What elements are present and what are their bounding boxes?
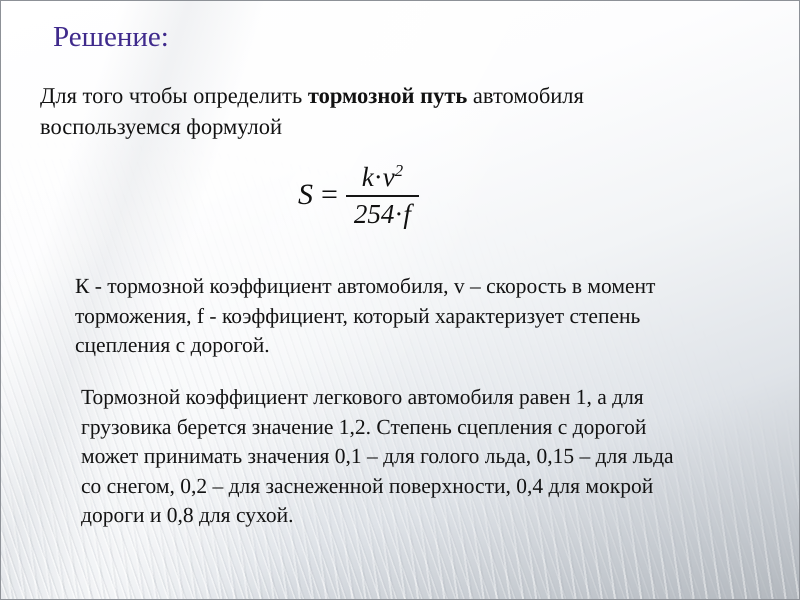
formula-numerator-dot: · xyxy=(374,162,383,192)
variable-definitions-paragraph: К - тормозной коэффициент автомобиля, v … xyxy=(75,272,699,361)
braking-distance-formula: S = k·v2 254·f xyxy=(298,161,419,230)
page-title: Решение: xyxy=(53,22,169,54)
formula-exponent: 2 xyxy=(395,161,403,180)
coefficient-values-paragraph: Тормозной коэффициент легкового автомоби… xyxy=(81,383,697,531)
formula-k: k xyxy=(362,162,374,192)
intro-text-before-bold: Для того чтобы определить xyxy=(40,83,308,108)
formula-denominator: 254·f xyxy=(346,197,419,230)
intro-bold-term: тормозной путь xyxy=(308,83,467,108)
formula-v: v xyxy=(383,162,395,192)
formula-fraction: k·v2 254·f xyxy=(346,161,419,230)
slide-content: Решение: Для того чтобы определить тормо… xyxy=(1,1,799,599)
formula-equals-sign: = xyxy=(321,178,338,212)
formula-lhs: S xyxy=(298,178,313,212)
formula-f: f xyxy=(403,199,411,229)
formula-numerator: k·v2 xyxy=(354,161,411,195)
intro-paragraph: Для того чтобы определить тормозной путь… xyxy=(40,80,700,142)
formula-254: 254 xyxy=(354,199,395,229)
presentation-slide: Решение: Для того чтобы определить тормо… xyxy=(0,0,800,600)
